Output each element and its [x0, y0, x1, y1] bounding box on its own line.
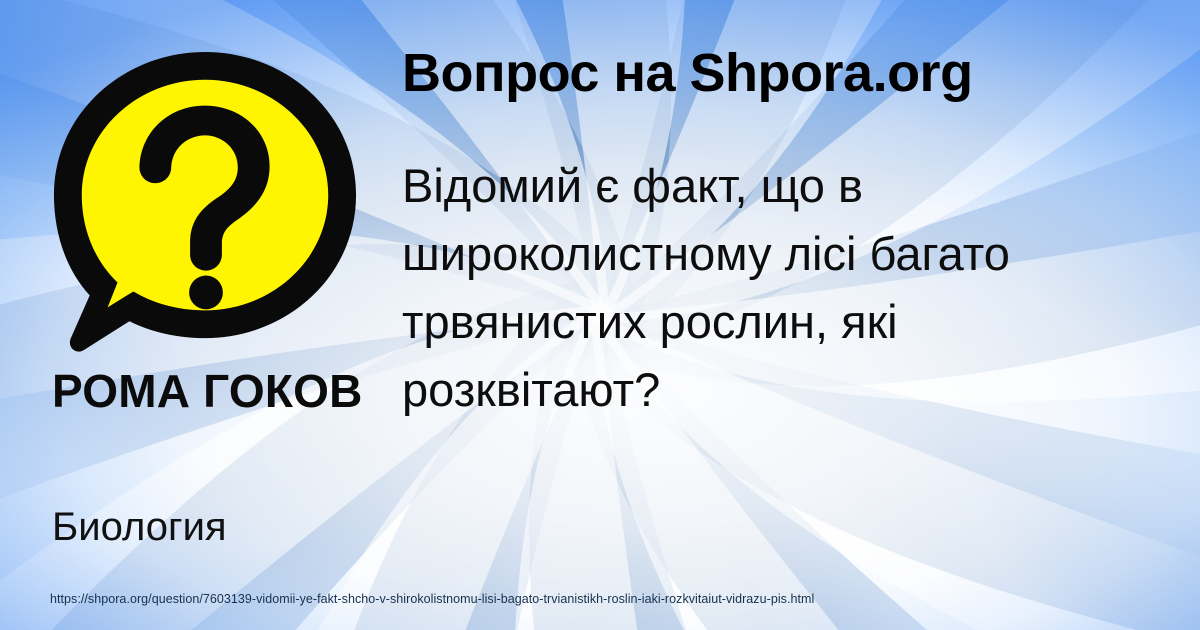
question-text: Відомий є факт, що в широколистному лісі…	[402, 152, 1142, 425]
subject-label: Биология	[52, 505, 382, 550]
question-share-card: РОМА ГОКОВ Биология Вопрос на Shpora.org…	[0, 0, 1200, 630]
source-url[interactable]: https://shpora.org/question/7603139-vido…	[50, 592, 814, 606]
author-name: РОМА ГОКОВ	[52, 366, 382, 418]
question-speech-bubble-icon	[46, 44, 364, 362]
card-content: РОМА ГОКОВ Биология Вопрос на Shpora.org…	[0, 0, 1200, 630]
page-title: Вопрос на Shpora.org	[402, 44, 1172, 103]
